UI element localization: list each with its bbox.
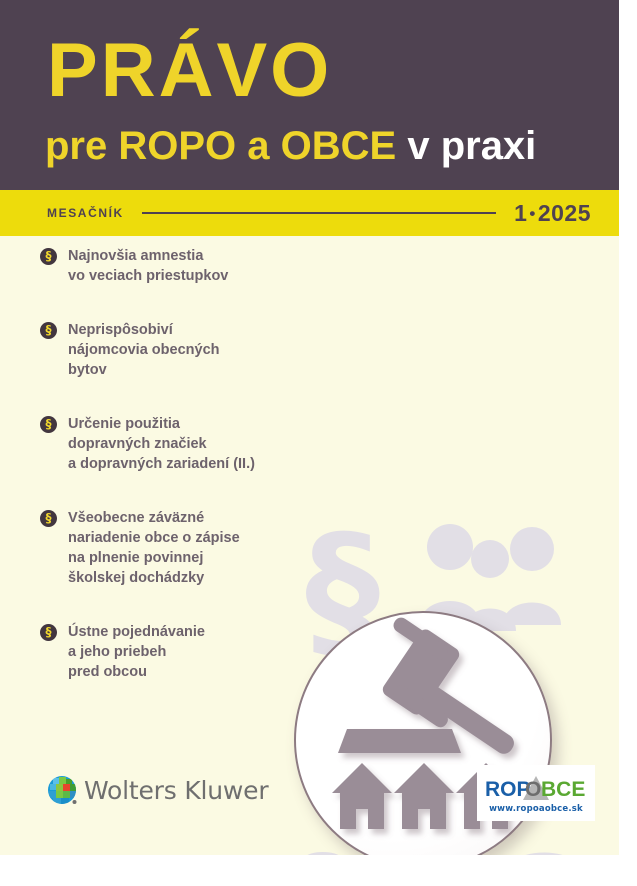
paragraph-bullet-icon: § (40, 624, 57, 641)
article-title: Všeobecne záväzné nariadenie obce o zápi… (68, 508, 240, 588)
periodicity-label: MESAČNÍK (47, 206, 124, 220)
list-item[interactable]: § Neprispôsobiví nájomcovia obecných byt… (40, 320, 290, 380)
list-item[interactable]: § Všeobecne záväzné nariadenie obce o zá… (40, 508, 290, 588)
article-title: Určenie použitia dopravných značiek a do… (68, 414, 255, 474)
cover-body: § 2 4 € (0, 236, 619, 855)
magazine-cover: PRÁVO pre ROPO a OBCE v praxi MESAČNÍK 1… (0, 0, 619, 855)
issue-number: 1 (514, 200, 527, 226)
article-title: Neprispôsobiví nájomcovia obecných bytov (68, 320, 220, 380)
list-item[interactable]: § Najnovšia amnestia vo veciach priestup… (40, 246, 290, 286)
paragraph-bullet-icon: § (40, 322, 57, 339)
issue-identifier: 1•2025 (514, 200, 591, 227)
wolters-kluwer-mark-icon (47, 775, 77, 805)
svg-text:O: O (525, 778, 541, 801)
ropo-website-url[interactable]: www.ropoaobce.sk (489, 804, 583, 814)
paragraph-bullet-icon: § (40, 510, 57, 527)
paragraph-bullet-icon: § (40, 416, 57, 433)
issue-banner: MESAČNÍK 1•2025 (0, 190, 619, 236)
issue-separator: • (527, 204, 537, 223)
article-title: Ústne pojednávanie a jeho priebeh pred o… (68, 622, 205, 682)
ropo-a-obce-logo[interactable]: ROP O BCE www.ropoaobce.sk (477, 765, 595, 821)
subtitle-white: v praxi (407, 124, 536, 168)
banner-divider (142, 212, 496, 214)
wolters-kluwer-wordmark: Wolters Kluwer (84, 776, 268, 805)
magazine-title: PRÁVO (47, 33, 332, 109)
contents-list: § Najnovšia amnestia vo veciach priestup… (40, 246, 290, 716)
list-item[interactable]: § Určenie použitia dopravných značiek a … (40, 414, 290, 474)
magazine-subtitle: pre ROPO a OBCE v praxi (45, 124, 536, 168)
article-title: Najnovšia amnestia vo veciach priestupko… (68, 246, 228, 286)
subtitle-highlight: pre ROPO a OBCE (45, 124, 396, 168)
cover-header: PRÁVO pre ROPO a OBCE v praxi (0, 0, 619, 190)
cover-footer: Wolters Kluwer ROP O BCE www.ropoaobce.s… (0, 753, 619, 855)
paragraph-bullet-icon: § (40, 248, 57, 265)
ropo-a-obce-mark-icon: ROP O BCE (481, 773, 591, 803)
svg-text:BCE: BCE (541, 778, 585, 801)
wolters-kluwer-logo[interactable]: Wolters Kluwer (47, 775, 268, 805)
list-item[interactable]: § Ústne pojednávanie a jeho priebeh pred… (40, 622, 290, 682)
issue-year: 2025 (538, 200, 591, 226)
svg-text:ROP: ROP (485, 778, 531, 801)
